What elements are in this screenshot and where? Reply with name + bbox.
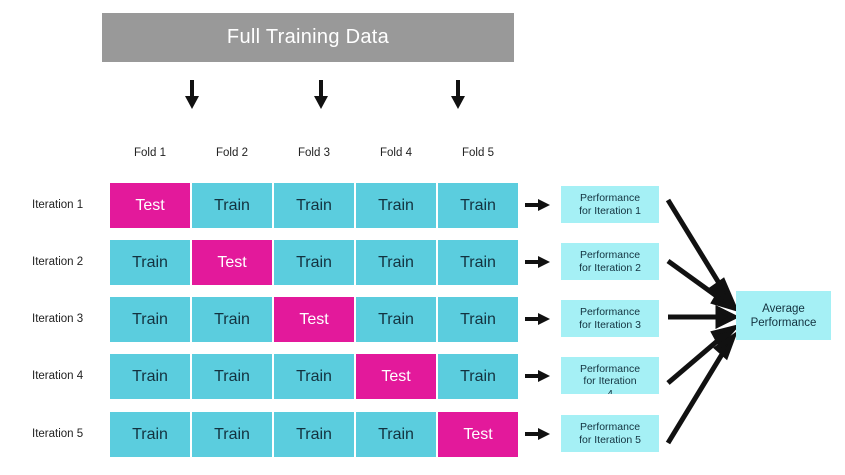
fold-cell-r3c5[interactable]: Train (438, 297, 518, 342)
fold-cell-r5c1[interactable]: Train (110, 412, 190, 457)
kfold-cross-validation-diagram: Full Training Data Fold 1 Fold 2 Fold 3 … (0, 0, 845, 475)
fold-cell-r2c2[interactable]: Test (192, 240, 272, 285)
fold-cell-r1c3[interactable]: Train (274, 183, 354, 228)
fold-header-1: Fold 1 (110, 147, 190, 159)
average-performance-box[interactable]: Average Performance (736, 291, 831, 340)
performance-box-3-label: Performance for Iteration 3 (576, 306, 644, 331)
fold-cell-r3c2[interactable]: Train (192, 297, 272, 342)
iteration-label-1: Iteration 1 (32, 199, 102, 211)
fold-cell-r2c4[interactable]: Train (356, 240, 436, 285)
fold-cell-r5c4[interactable]: Train (356, 412, 436, 457)
performance-box-4-label: Performance for Iteration 4 (577, 363, 643, 394)
row-arrow-1 (525, 197, 551, 213)
split-down-arrow-1 (183, 80, 201, 110)
row-arrow-5 (525, 426, 551, 442)
performance-box-2-label: Performance for Iteration 2 (576, 249, 644, 274)
fold-cell-r1c2[interactable]: Train (192, 183, 272, 228)
fold-cell-r5c2[interactable]: Train (192, 412, 272, 457)
fold-cell-r3c4[interactable]: Train (356, 297, 436, 342)
fold-cell-r2c3[interactable]: Train (274, 240, 354, 285)
fold-cell-r3c3[interactable]: Test (274, 297, 354, 342)
fold-header-5: Fold 5 (438, 147, 518, 159)
performance-box-5-label: Performance for Iteration 5 (576, 421, 644, 446)
fold-cell-r3c1[interactable]: Train (110, 297, 190, 342)
split-down-arrow-2 (312, 80, 330, 110)
performance-box-1-label: Performance for Iteration 1 (576, 192, 644, 217)
fold-cell-r5c3[interactable]: Train (274, 412, 354, 457)
row-arrow-2 (525, 254, 551, 270)
fold-cell-r1c5[interactable]: Train (438, 183, 518, 228)
page-title: Full Training Data (227, 26, 389, 49)
performance-box-5[interactable]: Performance for Iteration 5 (561, 415, 659, 452)
fold-cell-r4c2[interactable]: Train (192, 354, 272, 399)
fold-cell-r5c5[interactable]: Test (438, 412, 518, 457)
performance-box-4[interactable]: Performance for Iteration 4 (561, 357, 659, 394)
fold-header-3: Fold 3 (274, 147, 354, 159)
split-down-arrow-3 (449, 80, 467, 110)
fold-cell-r4c1[interactable]: Train (110, 354, 190, 399)
performance-box-2[interactable]: Performance for Iteration 2 (561, 243, 659, 280)
fold-cell-r1c4[interactable]: Train (356, 183, 436, 228)
fold-cell-r2c5[interactable]: Train (438, 240, 518, 285)
row-arrow-4 (525, 368, 551, 384)
converging-arrows (0, 0, 845, 475)
row-arrow-3 (525, 311, 551, 327)
iteration-label-5: Iteration 5 (32, 428, 102, 440)
iteration-label-2: Iteration 2 (32, 256, 102, 268)
fold-header-2: Fold 2 (192, 147, 272, 159)
iteration-label-3: Iteration 3 (32, 313, 102, 325)
fold-header-4: Fold 4 (356, 147, 436, 159)
performance-box-3[interactable]: Performance for Iteration 3 (561, 300, 659, 337)
fold-cell-r2c1[interactable]: Train (110, 240, 190, 285)
average-performance-label: Average Performance (751, 302, 817, 330)
fold-cell-r4c4[interactable]: Test (356, 354, 436, 399)
iteration-label-4: Iteration 4 (32, 370, 102, 382)
full-training-data-bar: Full Training Data (102, 13, 514, 62)
fold-cell-r4c5[interactable]: Train (438, 354, 518, 399)
fold-cell-r1c1[interactable]: Test (110, 183, 190, 228)
performance-box-1[interactable]: Performance for Iteration 1 (561, 186, 659, 223)
fold-cell-r4c3[interactable]: Train (274, 354, 354, 399)
